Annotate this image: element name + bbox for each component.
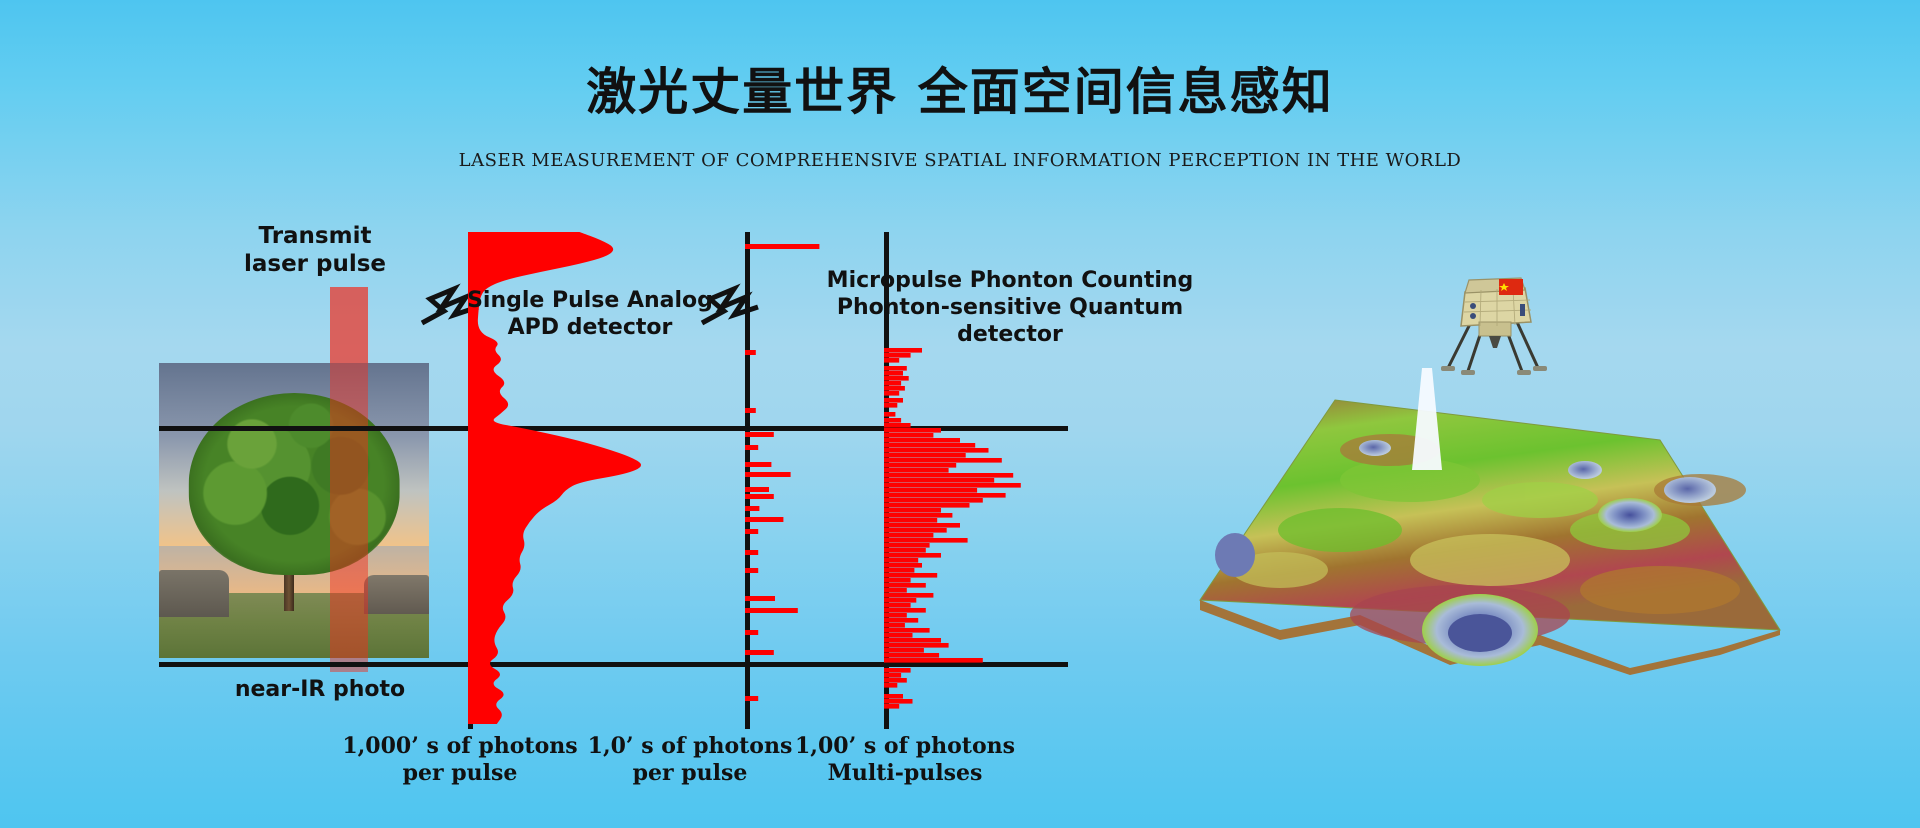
histogram-bar xyxy=(884,473,1013,478)
histogram-bar xyxy=(884,704,899,709)
histogram-bar xyxy=(884,448,989,453)
histogram-bar xyxy=(884,498,983,503)
laser-beam xyxy=(330,287,368,672)
canopy-reference-line-left xyxy=(159,426,349,431)
histogram-bar xyxy=(884,463,956,468)
photo-stone-wall-left xyxy=(159,570,229,617)
histogram-bar xyxy=(884,573,937,578)
histogram-bar xyxy=(884,428,941,433)
footer-2-line2: per pulse xyxy=(580,760,800,787)
near-ir-photo xyxy=(159,363,429,658)
histogram-bar xyxy=(884,623,905,628)
histogram-bar xyxy=(745,445,758,450)
histogram-bar xyxy=(884,358,899,363)
histogram-bar xyxy=(745,350,756,355)
histogram-bar xyxy=(884,412,895,417)
footer-3-line1: 1,00’ s of photons xyxy=(795,733,1015,759)
histogram-bar xyxy=(884,433,933,438)
histogram-bar xyxy=(745,472,791,477)
footer-3-line2: Multi-pulses xyxy=(790,760,1020,787)
histogram-bar xyxy=(745,462,771,467)
footer-2-line1: 1,0’ s of photons xyxy=(588,733,793,759)
ground-reference-line-left xyxy=(159,662,349,667)
transmit-label-line2: laser pulse xyxy=(244,251,386,277)
histogram-bar xyxy=(884,543,930,548)
histogram-bar xyxy=(884,483,1021,488)
page-subtitle: LASER MEASUREMENT OF COMPREHENSIVE SPATI… xyxy=(0,150,1920,171)
poster-stage: 激光丈量世界 全面空间信息感知 LASER MEASUREMENT OF COM… xyxy=(0,0,1920,828)
histogram-bar xyxy=(745,596,775,601)
histogram-bar xyxy=(884,593,933,598)
histogram-bar xyxy=(884,558,918,563)
lunar-landing-scene xyxy=(1160,270,1920,750)
histogram-bar xyxy=(884,683,897,688)
detector-a-label: Single Pulse Analog APD detector xyxy=(430,288,750,342)
histogram-bar xyxy=(884,453,966,458)
histogram-bar xyxy=(884,658,983,663)
histogram-bar xyxy=(884,518,937,523)
histogram-bar xyxy=(884,366,907,371)
histogram-bar xyxy=(745,244,819,249)
histogram-bar xyxy=(745,568,758,573)
histogram-bar xyxy=(884,458,1002,463)
histogram-bar xyxy=(745,487,769,492)
detector-b-line1: Micropulse Phonton Counting xyxy=(827,268,1194,293)
detector-a-line2: APD detector xyxy=(508,315,673,340)
histogram-bar xyxy=(884,603,911,608)
histogram-bar xyxy=(884,633,913,638)
histogram-bar xyxy=(884,488,977,493)
histogram-bar xyxy=(884,418,901,423)
histogram-bar xyxy=(884,468,949,473)
footer-1-line1: 1,000’ s of photons xyxy=(342,733,577,759)
detector-b-line2: Phonton-sensitive Quantum detector xyxy=(837,295,1183,347)
detector-a-line1: Single Pulse Analog xyxy=(467,288,713,313)
histogram-bar xyxy=(884,588,907,593)
page-title: 激光丈量世界 全面空间信息感知 xyxy=(0,52,1920,124)
histogram-bar xyxy=(884,508,941,513)
histogram-bar xyxy=(884,608,926,613)
histogram-bar xyxy=(884,478,994,483)
histogram-bar xyxy=(884,568,914,573)
histogram-bar xyxy=(884,648,924,653)
histogram-bar xyxy=(884,353,911,358)
histogram-bar xyxy=(884,643,949,648)
histogram-bar xyxy=(884,438,960,443)
histogram-bar xyxy=(884,694,903,699)
histogram-bar xyxy=(884,513,952,518)
footer-caption-2: 1,0’ s of photons per pulse xyxy=(580,733,800,787)
histogram-bar xyxy=(884,598,916,603)
histogram-bar xyxy=(884,538,968,543)
histogram-bar xyxy=(884,563,922,568)
histogram-bar xyxy=(884,533,933,538)
histogram-bar xyxy=(745,432,774,437)
histogram-bar xyxy=(745,608,798,613)
footer-caption-3: 1,00’ s of photons Multi-pulses xyxy=(790,733,1020,787)
histogram-bar xyxy=(884,403,897,408)
histogram-bar xyxy=(745,630,758,635)
footer-1-line2: per pulse xyxy=(340,760,580,787)
histogram-bar xyxy=(884,528,947,533)
histogram-bar xyxy=(884,699,913,704)
histogram-bar xyxy=(884,523,960,528)
histogram-bar xyxy=(745,550,758,555)
histogram-bar xyxy=(884,628,930,633)
histogram-bar xyxy=(884,381,901,386)
histogram-bar xyxy=(884,371,903,376)
histogram-bar xyxy=(884,386,905,391)
histogram-bar xyxy=(745,696,758,701)
near-ir-photo-caption: near-IR photo xyxy=(205,677,435,704)
histogram-bar xyxy=(884,583,926,588)
photo-stone-wall-right xyxy=(364,575,429,613)
histogram-bar xyxy=(884,376,909,381)
histogram-bar xyxy=(884,578,911,583)
histogram-bar xyxy=(745,650,774,655)
histogram-bar xyxy=(745,506,759,511)
histogram-bar xyxy=(884,678,907,683)
histogram-bar xyxy=(884,443,975,448)
transmit-label-line1: Transmit xyxy=(259,223,372,249)
histogram-bar xyxy=(884,613,907,618)
histogram-bar xyxy=(745,529,758,534)
histogram-bar xyxy=(884,348,922,353)
histogram-bar xyxy=(884,548,926,553)
histogram-bar xyxy=(884,618,918,623)
histogram-bar xyxy=(884,493,1006,498)
footer-caption-1: 1,000’ s of photons per pulse xyxy=(340,733,580,787)
histogram-bar xyxy=(884,668,911,673)
histogram-bar xyxy=(884,391,899,396)
histogram-bar xyxy=(745,408,756,413)
lunar-lander xyxy=(1425,270,1565,390)
histogram-bar xyxy=(884,553,941,558)
histogram-bar xyxy=(745,494,774,499)
transmit-laser-pulse-label: Transmit laser pulse xyxy=(215,222,415,278)
histogram-bar xyxy=(884,398,903,403)
histogram-bar xyxy=(884,423,911,428)
lunar-dem-terrain-model xyxy=(1160,330,1820,730)
histogram-bar xyxy=(884,638,941,643)
histogram-bar xyxy=(884,503,970,508)
histogram-bar xyxy=(884,673,901,678)
histogram-bar xyxy=(745,517,783,522)
histogram-bar xyxy=(884,653,939,658)
